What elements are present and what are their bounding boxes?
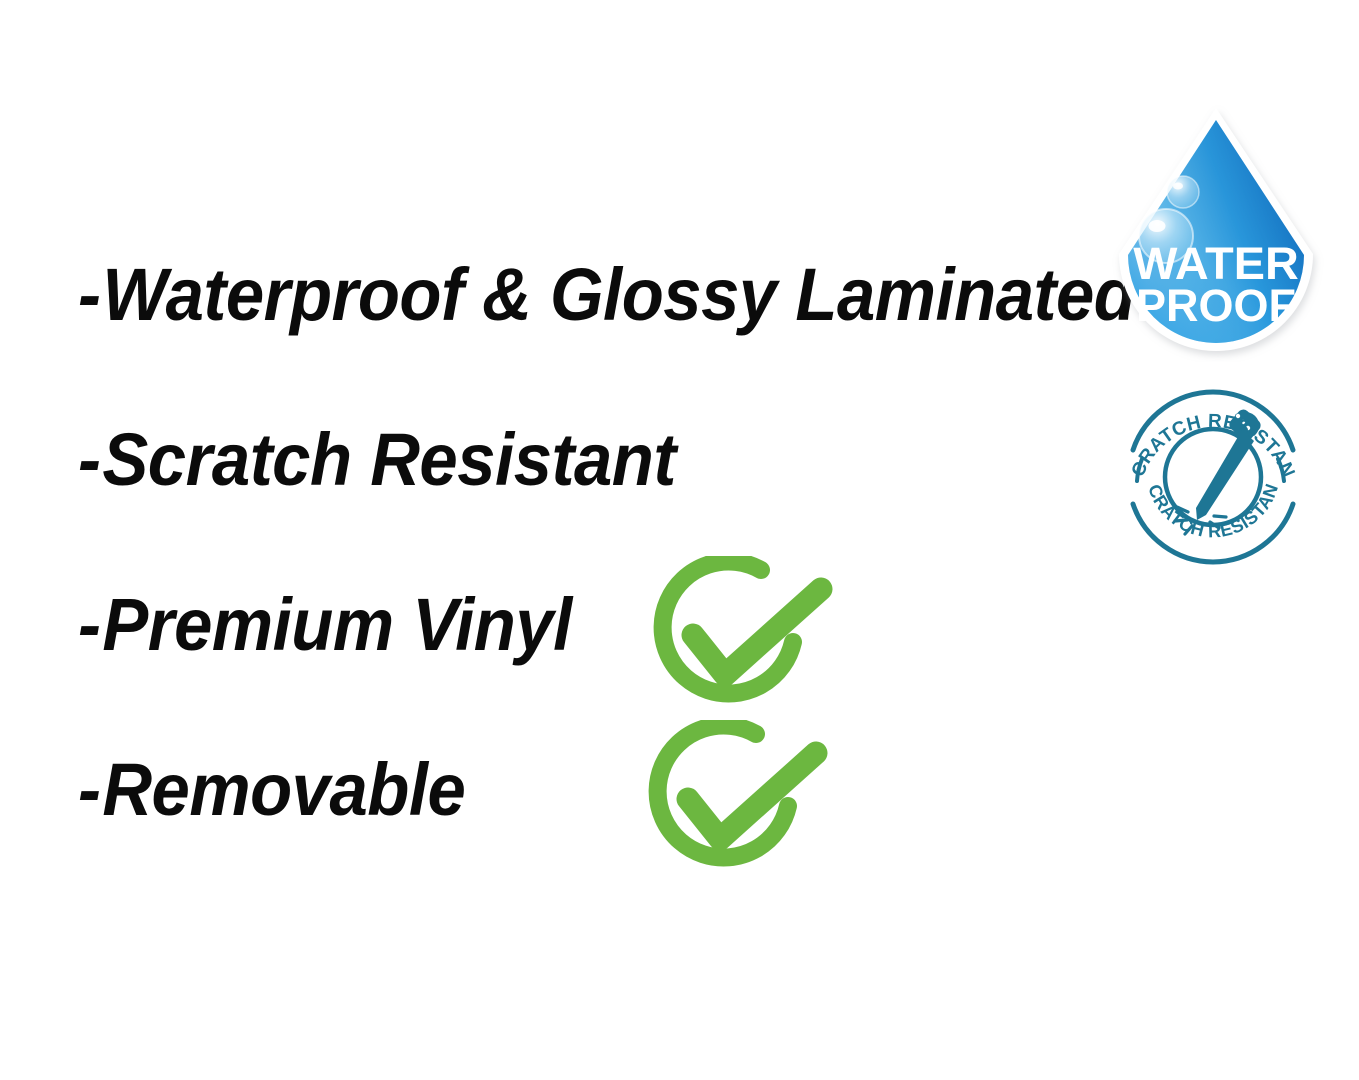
feature-bullet-dash: - [78, 753, 100, 827]
feature-item-premium-vinyl: -Premium Vinyl [78, 588, 572, 662]
check-mark-removable [638, 720, 834, 892]
feature-bullet-dash: - [78, 423, 100, 497]
check-tick-icon [693, 589, 821, 675]
feature-label: Scratch Resistant [102, 418, 675, 501]
feature-item-waterproof: -Waterproof & Glossy Laminated [78, 258, 1135, 332]
scratch-resistant-badge: SCRATCH RESISTANT SCRATCH RESISTANT [1118, 386, 1308, 568]
feature-bullet-dash: - [78, 588, 100, 662]
check-tick-icon [688, 753, 816, 839]
waterproof-badge: WATER PROOF [1108, 104, 1324, 362]
product-features-graphic: -Waterproof & Glossy Laminated -Scratch … [0, 0, 1359, 1080]
scratch-text-top: SCRATCH RESISTANT [1118, 386, 1299, 481]
feature-label: Waterproof & Glossy Laminated [102, 253, 1135, 336]
feature-item-removable: -Removable [78, 753, 465, 827]
feature-label: Premium Vinyl [102, 583, 571, 666]
feature-bullet-dash: - [78, 258, 100, 332]
feature-label: Removable [102, 748, 465, 831]
waterproof-text-line2: PROOF [1136, 280, 1296, 331]
feature-item-scratch-resistant: -Scratch Resistant [78, 423, 676, 497]
check-mark-premium-vinyl [643, 556, 839, 728]
